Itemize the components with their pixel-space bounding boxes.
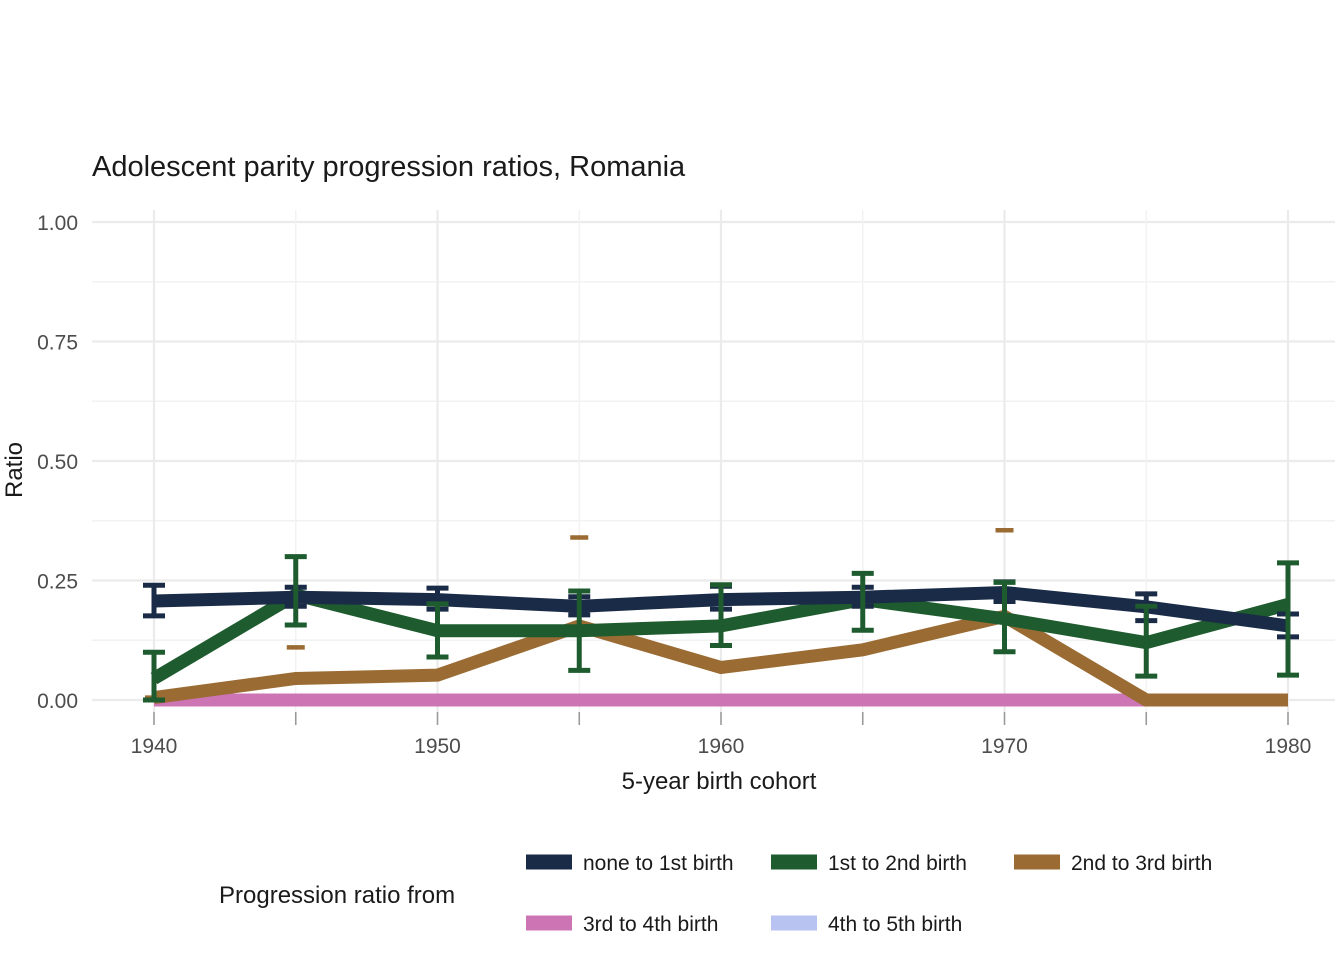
- legend-item-label: 2nd to 3rd birth: [1071, 852, 1212, 875]
- chart-title: Adolescent parity progression ratios, Ro…: [92, 151, 686, 183]
- legend-title: Progression ratio from: [219, 882, 455, 909]
- y-axis-title: Ratio: [1, 442, 28, 498]
- chart-background: [0, 0, 1344, 960]
- chart-container: Adolescent parity progression ratios, Ro…: [0, 0, 1344, 960]
- x-tick-label: 1950: [414, 735, 461, 758]
- x-tick-label: 1980: [1265, 735, 1312, 758]
- x-axis-title: 5-year birth cohort: [622, 768, 817, 795]
- legend-item-label: none to 1st birth: [583, 852, 734, 875]
- legend-item-label: 3rd to 4th birth: [583, 913, 718, 936]
- y-tick-label: 0.50: [37, 451, 78, 474]
- legend-color-swatch: [1014, 855, 1060, 870]
- parity-progression-chart: Adolescent parity progression ratios, Ro…: [0, 0, 1344, 960]
- y-tick-label: 0.00: [37, 690, 78, 713]
- x-tick-label: 1940: [131, 735, 178, 758]
- y-tick-label: 0.75: [37, 332, 78, 355]
- legend-color-swatch: [526, 916, 572, 931]
- legend-item-label: 4th to 5th birth: [828, 913, 962, 936]
- legend-color-swatch: [771, 916, 817, 931]
- x-tick-label: 1960: [698, 735, 745, 758]
- legend-color-swatch: [771, 855, 817, 870]
- y-tick-label: 0.25: [37, 571, 78, 594]
- legend-item-label: 1st to 2nd birth: [828, 852, 967, 875]
- legend-color-swatch: [526, 855, 572, 870]
- y-tick-label: 1.00: [37, 212, 78, 235]
- x-tick-label: 1970: [981, 735, 1028, 758]
